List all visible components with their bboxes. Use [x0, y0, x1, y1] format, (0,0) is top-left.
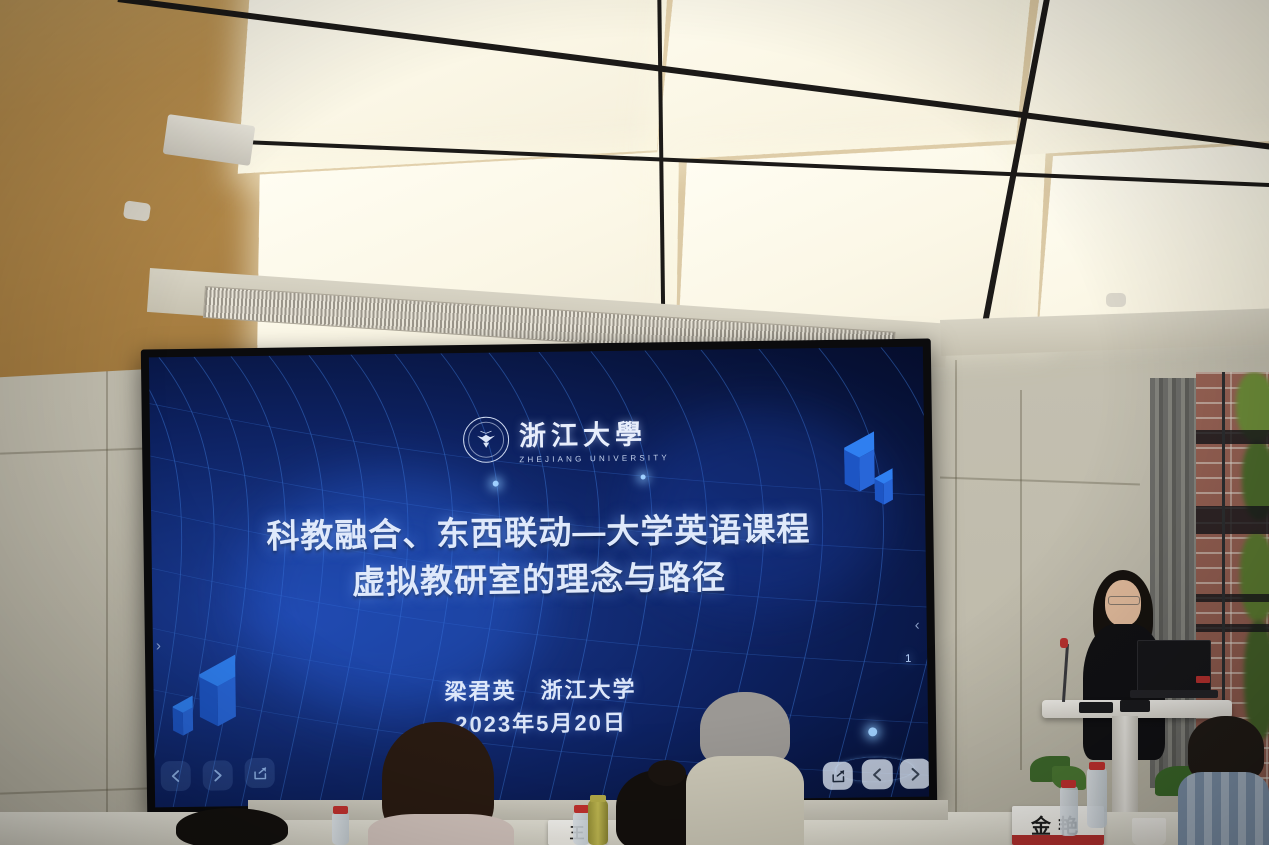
- screen-edge-chevron-right[interactable]: ›: [156, 637, 161, 654]
- window-louver: [1196, 430, 1269, 444]
- laptop: [1137, 640, 1211, 694]
- slide-title: 科教融合、东西联动—大学英语课程 虚拟教研室的理念与路径: [151, 505, 926, 610]
- bottle-cap: [574, 805, 589, 813]
- window-louver: [1196, 624, 1269, 632]
- window-louver: [1196, 506, 1269, 534]
- podium-stem: [1112, 716, 1138, 826]
- chevron-right-icon: [908, 766, 923, 781]
- screen-edge-chevron-left[interactable]: ‹: [915, 617, 920, 634]
- bottle-cap: [333, 806, 348, 814]
- window-louver: [1196, 594, 1269, 602]
- audience-hair-bun: [648, 760, 686, 786]
- zhejiang-university-emblem-icon: [463, 416, 510, 463]
- ceiling-light-panel: [238, 0, 673, 174]
- water-bottle: [332, 812, 349, 845]
- audience-member-grey-hair: [686, 692, 804, 845]
- share-icon: [252, 765, 267, 780]
- prev-slide-button[interactable]: [862, 759, 893, 789]
- chevron-left-icon: [870, 767, 885, 782]
- nameplate-band: [1012, 835, 1104, 845]
- share-slide-button[interactable]: [823, 762, 853, 790]
- ceiling-light-panel: [657, 0, 1042, 160]
- thermos-bottle: [588, 800, 608, 845]
- bottle-cap: [1061, 780, 1076, 788]
- ceiling-light-panel: [1038, 138, 1269, 333]
- audience-shirt: [686, 756, 804, 845]
- bottle-cap: [590, 795, 606, 802]
- microphone-head-icon: [1060, 638, 1068, 648]
- audience-jacket: [368, 814, 514, 845]
- next-slide-button[interactable]: [900, 759, 930, 789]
- coffee-cup: [1132, 818, 1166, 845]
- microphone: [1079, 702, 1113, 713]
- prev-slide-button[interactable]: [161, 761, 191, 791]
- bottle-cap: [1089, 762, 1105, 770]
- zju-logo: 浙江大學 ZHEJIANG UNIVERSITY: [463, 412, 670, 465]
- presenter-glasses-icon: [1108, 596, 1140, 605]
- water-bottle: [1060, 786, 1078, 836]
- audience-member-plaid-shirt: [1178, 716, 1269, 845]
- slide-content: 浙江大學 ZHEJIANG UNIVERSITY: [149, 347, 929, 808]
- wall-panel-seam: [1020, 390, 1022, 770]
- slide-page-number: 1: [905, 653, 911, 665]
- audience-shirt: [1178, 772, 1269, 845]
- foliage-outside: [1240, 532, 1269, 622]
- audience-member-front-left: [176, 808, 288, 845]
- smoke-detector: [1106, 293, 1126, 307]
- smoke-detector: [123, 200, 151, 221]
- water-bottle: [1087, 768, 1107, 828]
- next-slide-button[interactable]: [203, 760, 233, 790]
- zju-name-en: ZHEJIANG UNIVERSITY: [519, 453, 670, 464]
- share-icon: [830, 768, 845, 783]
- presentation-screen[interactable]: 浙江大學 ZHEJIANG UNIVERSITY: [149, 347, 929, 808]
- microphone: [1120, 700, 1150, 712]
- conference-room-photo: 浙江大學 ZHEJIANG UNIVERSITY: [0, 0, 1269, 845]
- laptop-base: [1130, 690, 1218, 698]
- wall-panel-seam: [955, 360, 957, 830]
- slide-glow-dot: [493, 481, 499, 487]
- slide-glow-dot: [641, 475, 646, 480]
- laptop-brand-sticker: [1196, 676, 1210, 683]
- audience-hair: [176, 808, 288, 845]
- chevron-right-icon: [211, 768, 225, 782]
- zju-name-cn: 浙江大學: [519, 412, 670, 453]
- share-slide-button[interactable]: [245, 758, 275, 788]
- audience-member-long-hair: [368, 722, 514, 845]
- decorative-cube-icon: [873, 473, 901, 509]
- presentation-screen-frame: 浙江大學 ZHEJIANG UNIVERSITY: [141, 339, 937, 816]
- wall-panel-seam: [106, 338, 108, 838]
- chevron-left-icon: [169, 769, 183, 783]
- slide-byline: 梁君英 浙江大学 2023年5月20日: [153, 669, 928, 746]
